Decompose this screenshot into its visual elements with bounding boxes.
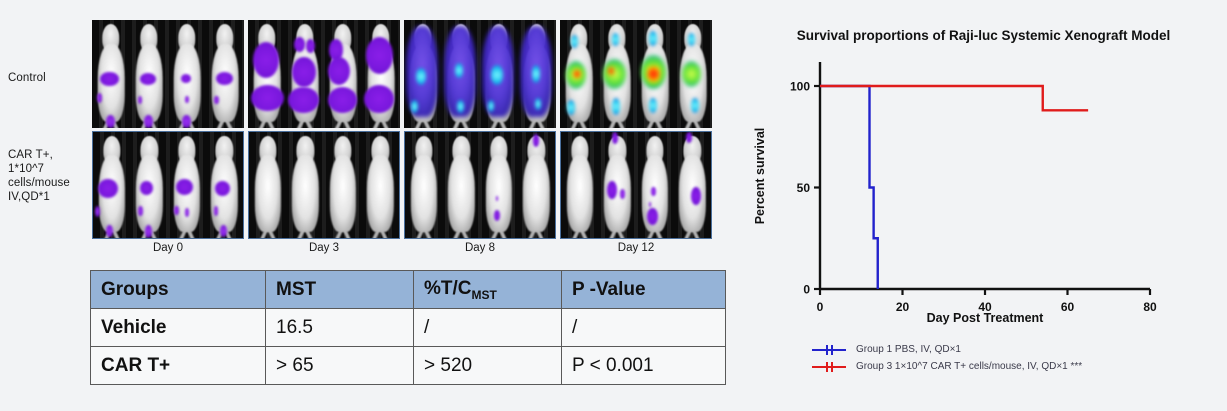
- mouse: [599, 132, 637, 238]
- mouse-legs: [290, 213, 321, 239]
- y-axis-label: Percent survival: [753, 128, 767, 225]
- imaging-cell-control-day0: [92, 20, 244, 128]
- signal-blob: [106, 225, 113, 237]
- signal-blob: [620, 189, 625, 199]
- imaging-cell-cart-day8: [404, 131, 556, 239]
- signal-blob: [364, 85, 394, 113]
- mouse-legs: [521, 213, 552, 239]
- mouse: [168, 20, 206, 128]
- mouse: [480, 132, 518, 238]
- signal-blob: [411, 100, 418, 113]
- legend-item-group3: Group 3 1×10^7 CAR T+ cells/mouse, IV, Q…: [812, 358, 1082, 375]
- signal-blob: [185, 96, 189, 104]
- signal-blob: [535, 98, 541, 110]
- mouse-legs: [408, 213, 439, 239]
- row-label-car-t-line2: 1*10^7: [8, 162, 92, 176]
- signal-blob: [306, 39, 315, 53]
- mouse-group: [249, 132, 399, 238]
- signal-blob: [98, 179, 118, 198]
- signal-blob: [612, 132, 618, 144]
- signal-blob: [651, 187, 656, 195]
- signal-blob: [328, 57, 350, 85]
- signal-blob: [140, 181, 153, 195]
- row-label-car-t-plus: CAR T+, 1*10^7 cells/mouse IV,QD*1: [8, 148, 92, 204]
- signal-blob: [686, 132, 692, 143]
- mouse-legs: [209, 102, 240, 128]
- mouse: [362, 132, 400, 238]
- mouse-legs: [365, 213, 396, 239]
- legend-marker-red-icon: [812, 361, 846, 373]
- table-cell-pvalue-cart: P < 0.001: [562, 347, 726, 385]
- signal-blob: [494, 210, 500, 221]
- mouse: [248, 20, 286, 128]
- signal-blob: [182, 115, 190, 128]
- signal-blob: [612, 33, 619, 46]
- signal-blob: [682, 61, 701, 87]
- signal-blob: [532, 65, 540, 82]
- y-tick-label-100: 100: [790, 80, 810, 94]
- signal-blob: [691, 98, 699, 113]
- mouse-legs: [564, 213, 595, 239]
- legend-label-group3: Group 3 1×10^7 CAR T+ cells/mouse, IV, Q…: [856, 361, 1082, 372]
- imaging-row-control: [92, 20, 712, 128]
- mouse: [92, 20, 130, 128]
- legend-label-group1: Group 1 PBS, IV, QD×1: [856, 344, 961, 355]
- mouse: [286, 20, 324, 128]
- signal-blob: [95, 206, 100, 217]
- legend-item-group1: Group 1 PBS, IV, QD×1: [812, 341, 1082, 358]
- signal-blob: [567, 100, 575, 115]
- day-label-row: Day 0 Day 3 Day 8 Day 12: [92, 242, 720, 254]
- signal-blob: [97, 93, 102, 103]
- signal-blob: [612, 98, 620, 115]
- signal-blob: [106, 115, 115, 128]
- signal-blob: [181, 74, 191, 83]
- mouse: [518, 20, 556, 128]
- mouse: [636, 132, 674, 238]
- signal-blob: [649, 202, 652, 207]
- legend-marker-blue-icon: [812, 344, 846, 356]
- mouse: [324, 132, 362, 238]
- mouse-legs: [327, 213, 358, 239]
- signal-blob: [649, 31, 657, 46]
- chart-legend: Group 1 PBS, IV, QD×1 Group 3 1×10^7 CAR…: [812, 341, 1082, 375]
- signal-blob: [647, 208, 658, 225]
- signal-blob: [144, 115, 152, 128]
- signal-blob: [216, 72, 233, 85]
- mouse-group: [561, 132, 711, 238]
- mouse-group: [560, 20, 712, 128]
- mouse: [480, 20, 518, 128]
- day-label-0: Day 0: [92, 242, 244, 254]
- mouse: [287, 132, 325, 238]
- signal-blob: [496, 196, 499, 201]
- y-tick-label-50: 50: [797, 181, 811, 195]
- mouse: [674, 132, 712, 238]
- signal-blob: [220, 225, 227, 237]
- row-label-car-t-line4: IV,QD*1: [8, 190, 92, 204]
- table-header-mst: MST: [266, 271, 414, 309]
- signal-blob: [688, 33, 695, 46]
- mouse: [404, 20, 442, 128]
- x-axis-label: Day Post Treatment: [927, 311, 1045, 325]
- mouse: [324, 20, 362, 128]
- signal-blob: [214, 206, 219, 216]
- mouse: [560, 20, 598, 128]
- mouse: [674, 20, 712, 128]
- table-cell-mst-vehicle: 16.5: [266, 309, 414, 347]
- signal-blob: [457, 100, 464, 113]
- table-cell-tc-vehicle: /: [414, 309, 562, 347]
- day-label-12: Day 12: [560, 242, 712, 254]
- imaging-cell-control-day8: [404, 20, 556, 128]
- mouse: [362, 20, 400, 128]
- table-header-tc-base: %T/C: [424, 278, 472, 299]
- table-row: CAR T+ > 65 > 520 P < 0.001: [91, 347, 726, 385]
- table-cell-group-cart: CAR T+: [91, 347, 266, 385]
- imaging-cell-cart-day12: [560, 131, 712, 239]
- results-table: Groups MST %T/CMST P -Value Vehicle 16.5…: [90, 270, 726, 385]
- row-label-car-t-line3: cells/mouse: [8, 176, 92, 190]
- mouse: [442, 20, 480, 128]
- table-cell-pvalue-vehicle: /: [562, 309, 726, 347]
- signal-blob: [691, 187, 701, 205]
- signal-blob: [100, 72, 118, 86]
- signal-blob: [366, 37, 393, 74]
- signal-blob: [138, 206, 143, 216]
- signal-blob: [288, 87, 318, 113]
- day-label-8: Day 8: [404, 242, 556, 254]
- day-label-3: Day 3: [248, 242, 400, 254]
- y-axis-tick-labels: 050100: [790, 80, 810, 297]
- survival-curve-group3: [820, 86, 1088, 110]
- imaging-cell-control-day3: [248, 20, 400, 128]
- table-header-row: Groups MST %T/CMST P -Value: [91, 271, 726, 309]
- survival-curve-group1: [820, 86, 878, 289]
- signal-blob: [214, 96, 219, 105]
- signal-blob: [571, 35, 578, 48]
- imaging-row-car-t-plus: [92, 131, 712, 239]
- mouse: [168, 132, 206, 238]
- signal-blob: [174, 206, 179, 214]
- signal-blob: [253, 42, 280, 79]
- mouse: [443, 132, 481, 238]
- signal-blob: [176, 179, 193, 195]
- table-header-tc-subscript: MST: [472, 287, 497, 301]
- mouse: [598, 20, 636, 128]
- signal-blob: [140, 73, 156, 85]
- imaging-cell-cart-day0: [92, 131, 244, 239]
- signal-blob: [215, 181, 230, 196]
- signal-blob: [138, 96, 143, 105]
- mouse: [249, 132, 287, 238]
- signal-blob: [416, 68, 426, 85]
- mouse-legs: [602, 213, 633, 239]
- signal-blob: [328, 87, 358, 113]
- signal-blob: [603, 59, 626, 89]
- table-cell-group-vehicle: Vehicle: [91, 309, 266, 347]
- imaging-cell-control-day12: [560, 20, 712, 128]
- mouse-legs: [446, 213, 477, 239]
- row-label-control: Control: [8, 71, 92, 85]
- table-cell-mst-cart: > 65: [266, 347, 414, 385]
- signal-blob: [607, 181, 617, 199]
- x-tick-label-20: 20: [896, 300, 910, 314]
- signal-blob: [251, 85, 284, 111]
- mouse-legs: [252, 213, 283, 239]
- table-row: Vehicle 16.5 / /: [91, 309, 726, 347]
- row-label-control-text: Control: [8, 71, 92, 85]
- imaging-panel: Control CAR T+, 1*10^7 cells/mouse IV,QD…: [0, 0, 740, 411]
- mouse-group: [248, 20, 400, 128]
- signal-blob: [491, 65, 502, 84]
- signal-blob: [294, 37, 305, 52]
- signal-blob: [647, 63, 660, 85]
- mouse: [130, 20, 168, 128]
- mouse-group: [405, 132, 555, 238]
- imaging-cell-cart-day3: [248, 131, 400, 239]
- survival-chart: Survival proportions of Raji-luc Systemi…: [740, 0, 1227, 411]
- signal-blob: [292, 57, 316, 87]
- x-tick-label-0: 0: [817, 300, 824, 314]
- mouse: [206, 20, 244, 128]
- x-tick-label-60: 60: [1061, 300, 1075, 314]
- signal-blob: [533, 134, 540, 147]
- mouse: [636, 20, 674, 128]
- table-header-pvalue: P -Value: [562, 271, 726, 309]
- mouse: [93, 132, 131, 238]
- signal-blob: [185, 208, 189, 216]
- x-tick-label-80: 80: [1143, 300, 1157, 314]
- signal-blob: [573, 68, 581, 81]
- table-header-tc: %T/CMST: [414, 271, 562, 309]
- y-tick-label-0: 0: [803, 283, 810, 297]
- mouse-group: [92, 20, 244, 128]
- mouse-legs: [677, 213, 708, 239]
- row-label-car-t-line1: CAR T+,: [8, 148, 92, 162]
- mouse: [561, 132, 599, 238]
- table-cell-tc-cart: > 520: [414, 347, 562, 385]
- mouse: [131, 132, 169, 238]
- mouse: [405, 132, 443, 238]
- table-header-groups: Groups: [91, 271, 266, 309]
- mouse: [518, 132, 556, 238]
- mouse-group: [93, 132, 243, 238]
- mouse-group: [404, 20, 556, 128]
- mouse: [206, 132, 244, 238]
- signal-blob: [649, 98, 657, 113]
